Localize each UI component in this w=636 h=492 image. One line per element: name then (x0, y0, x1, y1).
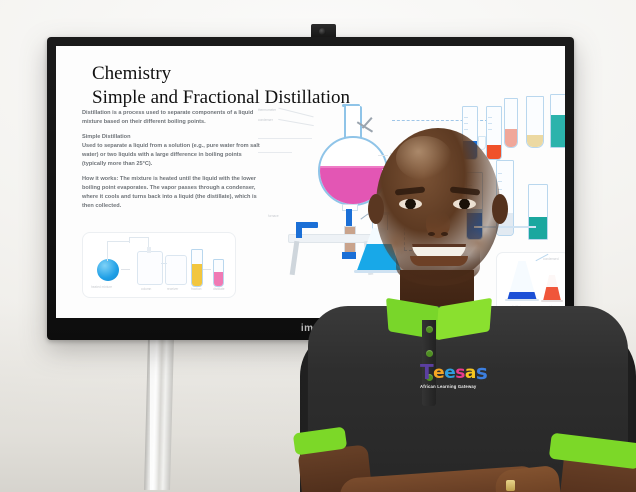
diagram-label-2: condenser (258, 118, 273, 122)
inset-vessel-2 (165, 255, 187, 285)
leader-line-1 (278, 108, 313, 118)
leader-line-4 (258, 152, 292, 153)
teesas-wordmark: T e e s a s (420, 362, 512, 382)
inset-sphere (97, 259, 119, 281)
nostril-left (428, 232, 435, 236)
inset-flow-label-1: heated mixture (91, 285, 112, 289)
teesas-tagline: African Learning Gateway (420, 384, 512, 389)
inset-tube-pink (213, 259, 224, 287)
slide-body-text: Distillation is a process used to separa… (82, 109, 262, 217)
inset-tube-yellow-liquid (192, 264, 202, 286)
inset-tube-yellow (191, 249, 203, 287)
inset-flow-label-3: receiver (167, 287, 178, 291)
inset-flow-label-5: distillate (213, 287, 225, 291)
scene-root: Chemistry Simple and Fractional Distilla… (0, 0, 636, 492)
webcam-module (311, 24, 336, 38)
logo-letter-e1: e (433, 365, 444, 382)
lower-lip (410, 256, 468, 266)
inset-tube-pink-liquid (214, 272, 223, 286)
logo-letter-a: a (465, 365, 476, 382)
shirt-button-1 (426, 326, 433, 333)
ear-left (368, 194, 384, 224)
slide-heading-simple-distillation: Simple Distillation (82, 133, 262, 142)
slide-paragraph-intro: Distillation is a process used to separa… (82, 109, 262, 127)
slide-paragraph-usage: Used to separate a liquid from a solutio… (82, 142, 262, 169)
wedding-ring (506, 480, 515, 491)
inset-flow-label-2: column (141, 287, 151, 291)
process-flow-inset: heated mixture column receiver fraction … (82, 232, 236, 298)
tv-stand-highlight (150, 338, 160, 490)
logo-letter-s2: s (476, 362, 487, 382)
logo-letter-e2: e (444, 365, 455, 382)
eye-right (453, 199, 476, 209)
presenter: T e e s a s African Learning Gateway (300, 120, 636, 492)
diagram-label-5: furnace (268, 214, 279, 218)
slide-title-line1: Chemistry (92, 63, 171, 84)
diagram-label-1: thermometer (258, 108, 276, 112)
nostril-right (441, 232, 448, 236)
webcam-lens-icon (319, 28, 326, 35)
eye-left (399, 199, 422, 209)
logo-letter-t: T (420, 362, 433, 382)
inset-flow-label-4: fraction (191, 287, 201, 291)
inset-vessel-1 (137, 251, 163, 285)
stand-leg-l (290, 241, 300, 275)
teesas-logo: T e e s a s African Learning Gateway (420, 362, 512, 396)
head-highlight (396, 136, 452, 180)
slide-paragraph-how-it-works: How it works: The mixture is heated unti… (82, 175, 262, 211)
shirt-button-2 (426, 350, 433, 357)
ear-right (492, 194, 508, 224)
logo-letter-s1: s (455, 365, 465, 382)
